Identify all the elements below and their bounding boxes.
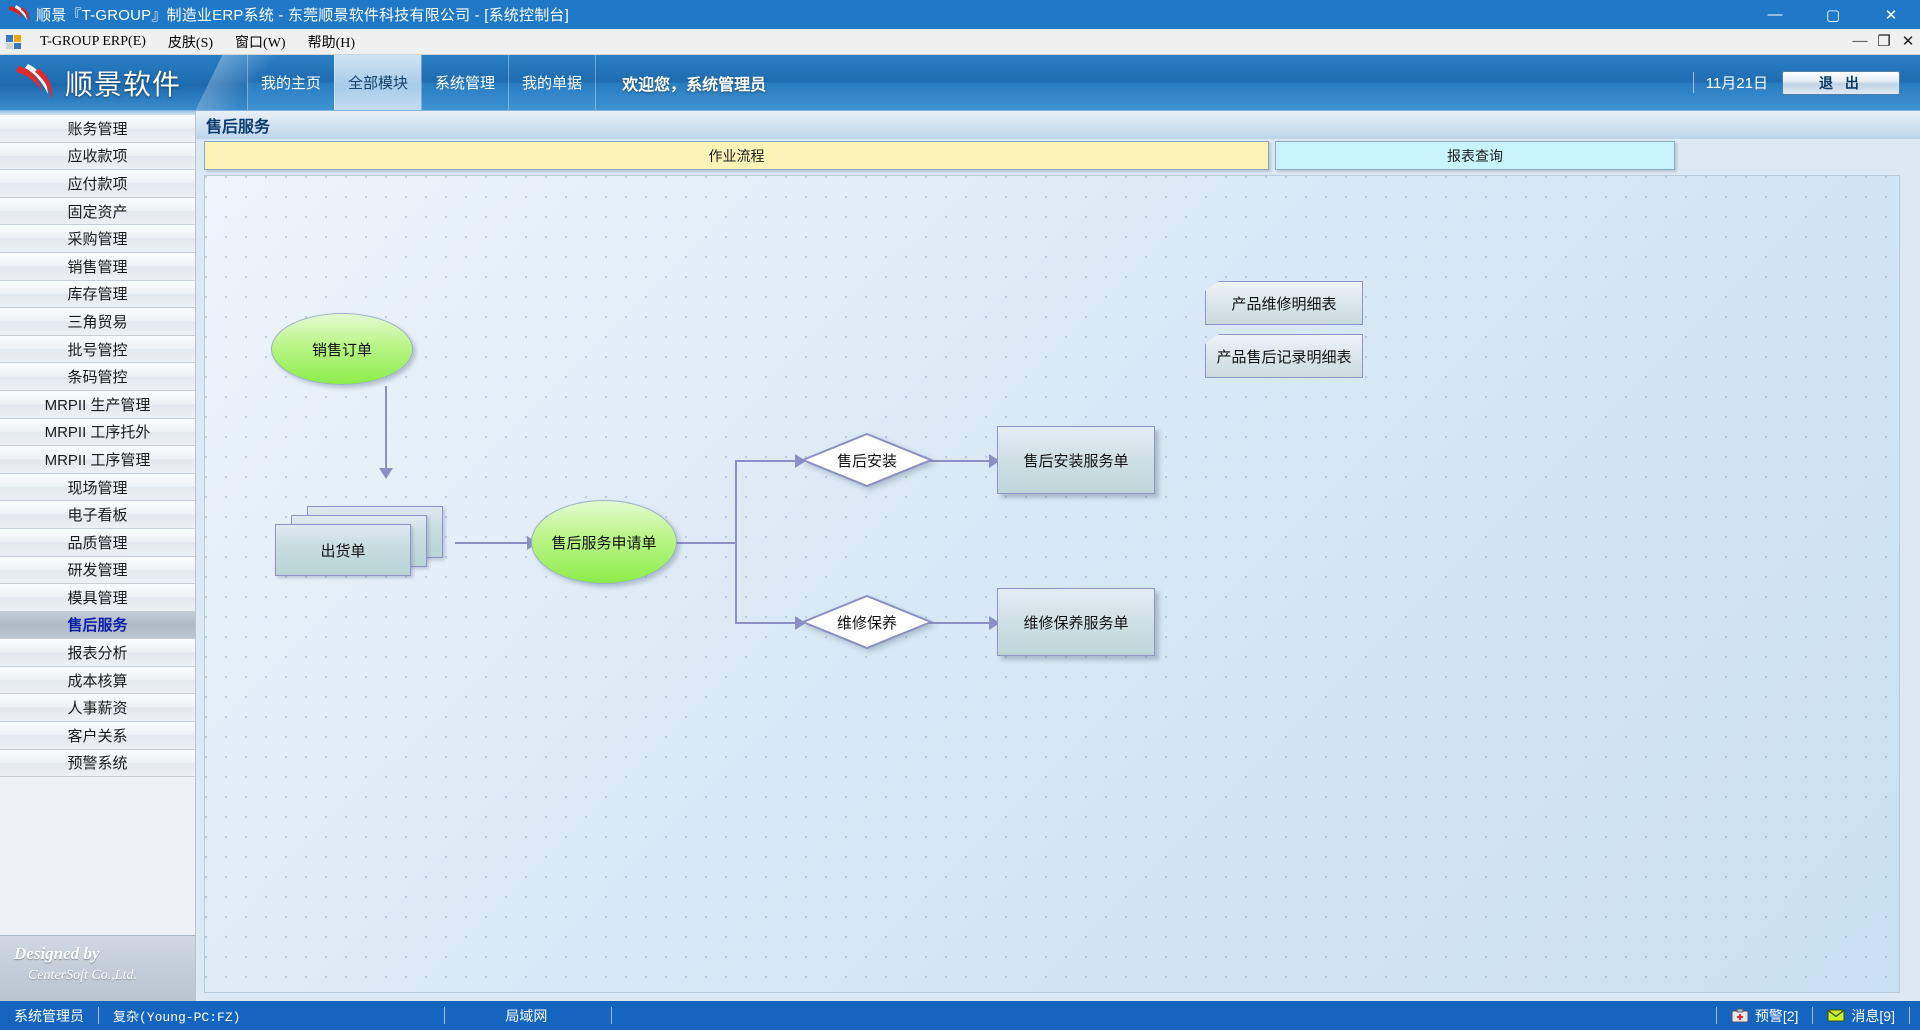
sidebar-item-fixed-assets[interactable]: 固定资产 [0,198,195,226]
sidebar-item-sales[interactable]: 销售管理 [0,253,195,281]
flow-node-shipment-label: 出货单 [320,540,365,561]
logout-button[interactable]: 退 出 [1782,71,1900,95]
body-area: 账务管理 应收款项 应付款项 固定资产 采购管理 销售管理 库存管理 三角贸易 … [0,111,1920,1001]
sidebar-item-alert-system[interactable]: 预警系统 [0,750,195,778]
sidebar-item-payables[interactable]: 应付款项 [0,170,195,198]
window-titlebar: 顺景『T-GROUP』制造业ERP系统 - 东莞顺景软件科技有限公司 - [系统… [0,0,1920,29]
tab-work-flow[interactable]: 作业流程 [204,141,1269,170]
header-right-group: 11月21日 退 出 [1693,55,1920,110]
sidebar-item-triangle-trade[interactable]: 三角贸易 [0,308,195,336]
nav-tab-all-modules[interactable]: 全部模块 [334,55,421,110]
menu-item-help[interactable]: 帮助(H) [297,29,366,55]
status-message-label: 消息[9] [1851,1006,1895,1026]
status-alert-button[interactable]: 预警[2] [1717,1001,1813,1030]
header-spacer [766,55,1693,110]
brand-name: 顺景软件 [65,63,181,103]
status-message-button[interactable]: 消息[9] [1813,1001,1909,1030]
sidebar-item-cost-accounting[interactable]: 成本核算 [0,667,195,695]
menu-item-skin[interactable]: 皮肤(S) [157,29,224,55]
mdi-restore-button[interactable]: ❐ [1872,32,1896,51]
company-name-label: CenterSoft Co.,Ltd. [28,968,195,984]
flow-node-repair-detail-report-label: 产品维修明细表 [1231,293,1336,314]
mdi-minimize-button[interactable]: — [1848,33,1872,50]
flow-node-install-service-order[interactable]: 售后安装服务单 [997,426,1155,494]
flow-node-sales-order[interactable]: 销售订单 [271,313,413,385]
window-close-button[interactable]: ✕ [1862,0,1920,29]
status-network: 局域网 [445,1001,561,1030]
connector-shipment-to-request [455,542,531,544]
menu-item-erp[interactable]: T-GROUP ERP(E) [29,31,157,53]
sidebar-item-quality[interactable]: 品质管理 [0,529,195,557]
main-panel: 售后服务 作业流程 报表查询 [196,111,1920,1001]
flow-node-maintenance-decision-label: 维修保养 [801,594,933,650]
welcome-message: 欢迎您，系统管理员 [596,55,766,110]
header-date: 11月21日 [1693,72,1768,93]
flow-node-sales-order-label: 销售订单 [312,339,372,360]
sidebar-item-mrp2-production[interactable]: MRPII 生产管理 [0,391,195,419]
status-divider-3 [611,1007,612,1024]
sidebar-item-report-analysis[interactable]: 报表分析 [0,639,195,667]
mdi-app-icon [5,33,23,51]
page-title: 售后服务 [206,113,270,137]
sidebar-item-mold[interactable]: 模具管理 [0,584,195,612]
brand-logo-icon [12,63,56,103]
window-maximize-button[interactable]: ▢ [1804,0,1862,29]
app-header: 顺景软件 我的主页 全部模块 系统管理 我的单据 欢迎您，系统管理员 11月21… [0,55,1920,111]
sidebar-item-shopfloor[interactable]: 现场管理 [0,474,195,502]
header-nav-tabs: 我的主页 全部模块 系统管理 我的单据 [247,55,596,110]
connector-sales-to-shipment [385,386,387,471]
connector-request-to-branch [675,542,737,544]
sidebar: 账务管理 应收款项 应付款项 固定资产 采购管理 销售管理 库存管理 三角贸易 … [0,111,196,1001]
sidebar-item-purchasing[interactable]: 采购管理 [0,225,195,253]
tab-report-query[interactable]: 报表查询 [1275,141,1675,170]
window-minimize-button[interactable]: — [1746,0,1804,29]
sidebar-item-receivables[interactable]: 应收款项 [0,143,195,171]
status-bar: 系统管理员 复杂(Young-PC:FZ) 局域网 预警[2] 消息[9] [0,1001,1920,1030]
mdi-close-button[interactable]: ✕ [1896,32,1920,51]
sidebar-item-mrp2-outsourcing[interactable]: MRPII 工序托外 [0,419,195,447]
sidebar-item-mrp2-process[interactable]: MRPII 工序管理 [0,446,195,474]
status-user: 系统管理员 [0,1001,98,1030]
connector-branch-lower [735,622,799,624]
connector-branch-vertical [735,460,737,624]
flow-node-install-service-order-label: 售后安装服务单 [1023,450,1128,471]
status-divider-6 [1909,1007,1910,1024]
menu-bar: T-GROUP ERP(E) 皮肤(S) 窗口(W) 帮助(H) — ❐ ✕ [0,29,1920,55]
sidebar-item-rnd[interactable]: 研发管理 [0,557,195,585]
sidebar-item-inventory[interactable]: 库存管理 [0,281,195,309]
flow-node-service-record-report-label: 产品售后记录明细表 [1216,346,1351,367]
designed-by-label: Designed by [14,944,195,964]
nav-tab-my-documents[interactable]: 我的单据 [508,55,596,110]
first-aid-kit-icon [1731,1008,1749,1023]
connector-branch-upper [735,460,799,462]
connector-install-to-order [929,460,995,462]
arrowhead-shipment [379,468,393,479]
connector-maintenance-to-order [929,622,995,624]
flow-node-shipment[interactable]: 出货单 [275,506,447,578]
sidebar-item-crm[interactable]: 客户关系 [0,722,195,750]
flow-node-install-decision-label: 售后安装 [801,432,933,488]
sidebar-footer: Designed by CenterSoft Co.,Ltd. [0,935,195,1001]
status-connection: 复杂(Young-PC:FZ) [99,1001,254,1030]
sidebar-item-accounting[interactable]: 账务管理 [0,115,195,143]
flow-node-service-record-report[interactable]: 产品售后记录明细表 [1205,334,1363,378]
sidebar-item-barcode-control[interactable]: 条码管控 [0,363,195,391]
flow-node-maintenance-service-order[interactable]: 维修保养服务单 [997,588,1155,656]
shipment-card-front: 出货单 [275,524,411,576]
sidebar-item-hr-payroll[interactable]: 人事薪资 [0,694,195,722]
status-alert-label: 预警[2] [1755,1006,1799,1026]
nav-tab-system-management[interactable]: 系统管理 [421,55,508,110]
flow-node-service-request[interactable]: 售后服务申请单 [531,500,677,584]
brand-area: 顺景软件 [0,55,247,110]
app-logo-icon [6,4,32,26]
flow-node-maintenance-service-order-label: 维修保养服务单 [1023,612,1128,633]
envelope-icon [1827,1008,1845,1023]
flow-node-maintenance-decision[interactable]: 维修保养 [801,594,933,650]
flowchart-canvas: 销售订单 出货单 售后服务申请单 售后安装 [204,175,1900,993]
sidebar-item-kanban[interactable]: 电子看板 [0,501,195,529]
flow-node-repair-detail-report[interactable]: 产品维修明细表 [1205,281,1363,325]
sidebar-item-after-sales[interactable]: 售后服务 [0,612,195,640]
menu-item-window[interactable]: 窗口(W) [224,29,297,55]
page-title-bar: 售后服务 [196,111,1920,139]
flow-node-install-decision[interactable]: 售后安装 [801,432,933,488]
sidebar-empty-space [0,777,195,935]
window-title: 顺景『T-GROUP』制造业ERP系统 - 东莞顺景软件科技有限公司 - [系统… [36,4,569,25]
sidebar-item-batch-control[interactable]: 批号管控 [0,336,195,364]
content-tabs: 作业流程 报表查询 [196,139,1920,170]
flow-node-service-request-label: 售后服务申请单 [551,532,656,553]
